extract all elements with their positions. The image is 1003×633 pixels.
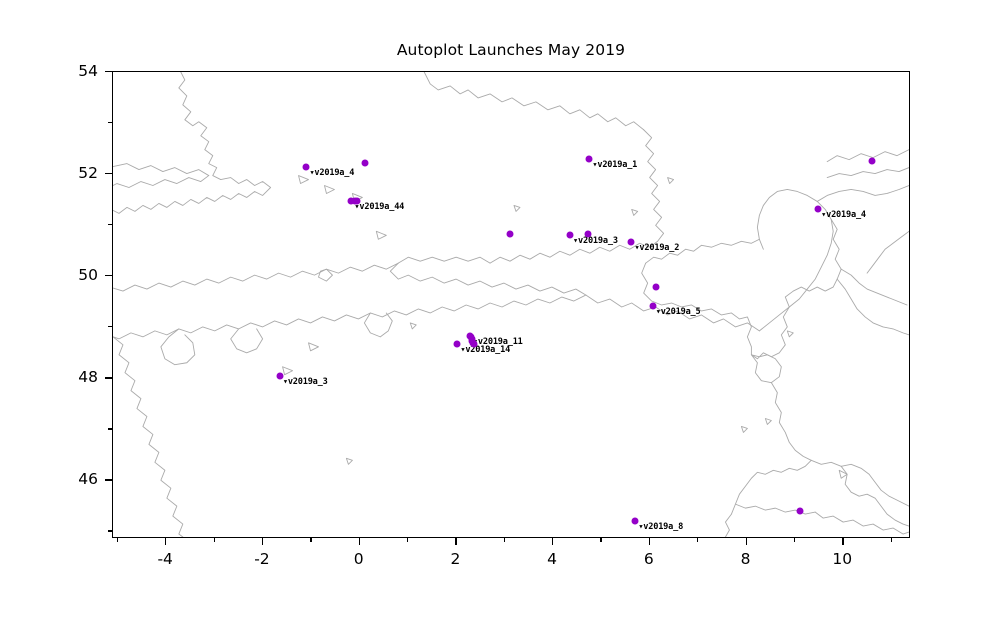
x-tick-minor	[117, 538, 118, 542]
scatter-point[interactable]	[652, 284, 659, 291]
x-tick-major	[842, 538, 843, 545]
point-label: ▾v2019a_11	[473, 337, 523, 347]
x-tick-label: -4	[157, 550, 172, 568]
x-tick-major	[649, 538, 650, 545]
y-tick-major	[105, 173, 112, 174]
x-tick-minor	[697, 538, 698, 542]
x-tick-label: -2	[254, 550, 269, 568]
x-tick-label: 0	[354, 550, 364, 568]
y-tick-major	[105, 377, 112, 378]
scatter-point[interactable]	[796, 507, 803, 514]
x-tick-major	[165, 538, 166, 545]
y-tick-label: 48	[0, 368, 98, 386]
x-tick-label: 10	[832, 550, 852, 568]
x-tick-minor	[214, 538, 215, 542]
point-label: ▾v2019a_5	[656, 307, 701, 317]
x-tick-minor	[310, 538, 311, 542]
y-tick-label: 46	[0, 470, 98, 488]
y-tick-major	[105, 479, 112, 480]
point-label: ▾v2019a_3	[283, 377, 328, 387]
scatter-point[interactable]	[869, 158, 876, 165]
point-label: ▾v2019a_4	[309, 168, 354, 178]
x-tick-label: 8	[741, 550, 751, 568]
x-tick-major	[262, 538, 263, 545]
point-label: ▾v2019a_44	[354, 202, 404, 212]
x-tick-major	[746, 538, 747, 545]
x-tick-minor	[504, 538, 505, 542]
x-tick-label: 6	[644, 550, 654, 568]
point-label: ▾v2019a_8	[638, 522, 683, 532]
page-title: Autoplot Launches May 2019	[112, 41, 910, 59]
x-tick-label: 2	[450, 550, 460, 568]
x-tick-label: 4	[547, 550, 557, 568]
point-label: ▾v2019a_4	[821, 210, 866, 220]
x-tick-minor	[794, 538, 795, 542]
basemap-coastlines	[113, 72, 909, 537]
y-tick-label: 50	[0, 266, 98, 284]
point-label: ▾v2019a_3	[573, 236, 618, 246]
plot-area[interactable]: ▾v2019a_4▾v2019a_44▾v2019a_1▾v2019a_4▾v2…	[112, 71, 910, 538]
scatter-point[interactable]	[354, 198, 361, 205]
x-tick-minor	[407, 538, 408, 542]
y-tick-label: 52	[0, 164, 98, 182]
point-label: ▾v2019a_2	[634, 243, 679, 253]
y-tick-label: 54	[0, 62, 98, 80]
x-tick-minor	[600, 538, 601, 542]
y-tick-major	[105, 275, 112, 276]
x-tick-minor	[891, 538, 892, 542]
x-tick-major	[552, 538, 553, 545]
point-label: ▾v2019a_1	[592, 160, 637, 170]
x-tick-major	[359, 538, 360, 545]
matplotlib-figure: Autoplot Launches May 2019	[0, 0, 1003, 633]
scatter-point[interactable]	[362, 159, 369, 166]
scatter-point[interactable]	[506, 231, 513, 238]
scatter-point[interactable]	[584, 230, 591, 237]
scatter-point[interactable]	[470, 340, 477, 347]
y-tick-major	[105, 71, 112, 72]
x-tick-major	[455, 538, 456, 545]
